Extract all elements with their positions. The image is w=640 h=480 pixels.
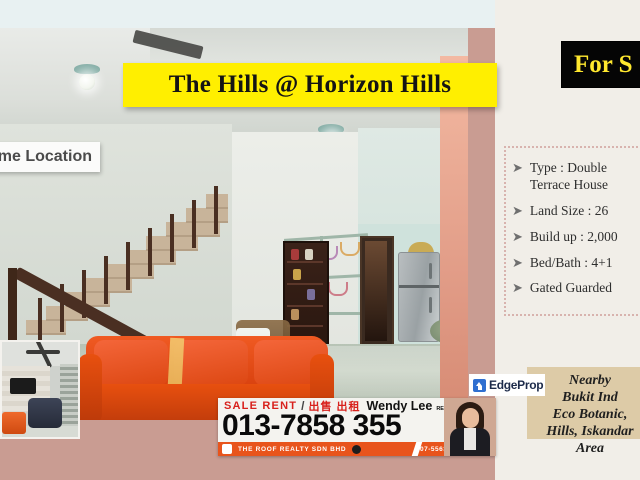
arrow-bullet-icon: ➤ — [512, 255, 523, 272]
arrow-bullet-icon: ➤ — [512, 203, 523, 220]
property-title-banner: The Hills @ Horizon Hills — [123, 63, 497, 107]
spec-text: Land Size : 26 — [530, 203, 608, 220]
for-sale-label: For S — [574, 51, 633, 79]
top-band — [0, 0, 495, 28]
for-sale-banner: For S — [561, 41, 640, 88]
stair-newel-post — [8, 268, 17, 346]
dark-sofa — [28, 398, 62, 428]
firm-name: THE ROOF REALTY SDN BHD — [238, 446, 346, 453]
spec-text: Bed/Bath : 4+1 — [530, 255, 613, 272]
agent-photo — [444, 398, 496, 456]
arrow-bullet-icon: ➤ — [512, 280, 523, 297]
nearby-line: Hills, Iskandar — [533, 423, 640, 440]
ceiling-light-icon — [79, 74, 95, 90]
nearby-line: Area — [533, 440, 640, 457]
contact-banner: SALE RENT / 出售 出租 Wendy Lee REN 20008 01… — [218, 398, 496, 456]
spec-item: ➤ Bed/Bath : 4+1 — [512, 255, 640, 272]
arrow-bullet-icon: ➤ — [512, 229, 523, 246]
nearby-line: Eco Botanic, — [533, 406, 640, 423]
phone-number: 013-7858 355 — [222, 409, 401, 443]
phone-number-row[interactable]: 013-7858 355 — [222, 410, 442, 442]
light-base — [74, 64, 100, 74]
house-icon — [473, 379, 486, 392]
spec-item: ➤ Build up : 2,000 — [512, 229, 640, 246]
spec-text: Build up : 2,000 — [530, 229, 618, 246]
window-blinds — [60, 364, 78, 426]
location-tag: me Location — [0, 142, 100, 172]
page-title: The Hills @ Horizon Hills — [169, 71, 451, 99]
inset-livingroom-photo — [0, 340, 80, 439]
spec-item: ➤ Land Size : 26 — [512, 203, 640, 220]
spec-item: ➤ Gated Guarded — [512, 280, 640, 297]
television — [10, 378, 36, 394]
watermark-text-edge: Edge — [489, 378, 517, 392]
spec-item: ➤ Type : Double Terrace House — [512, 160, 640, 194]
listing-image: The Hills @ Horizon Hills me Location Fo… — [0, 0, 640, 480]
edgeprop-watermark: Edge Prop — [469, 374, 545, 396]
watermark-text-prop: Prop — [517, 378, 543, 392]
spec-text: Type : Double Terrace House — [530, 160, 608, 194]
staircase — [16, 148, 228, 344]
nearby-line: Bukit Ind — [533, 389, 640, 406]
badge-icon — [352, 445, 361, 454]
firm-logo-icon — [222, 444, 232, 454]
property-specs-box: ➤ Type : Double Terrace House ➤ Land Siz… — [504, 146, 640, 316]
doorway — [360, 236, 394, 348]
location-tag-label: me Location — [0, 148, 92, 166]
orange-sofa — [2, 412, 26, 434]
arrow-bullet-icon: ➤ — [512, 160, 523, 194]
spec-text: Gated Guarded — [530, 280, 612, 297]
photo-right-edge — [440, 56, 468, 420]
nearby-line: Nearby — [533, 372, 640, 389]
